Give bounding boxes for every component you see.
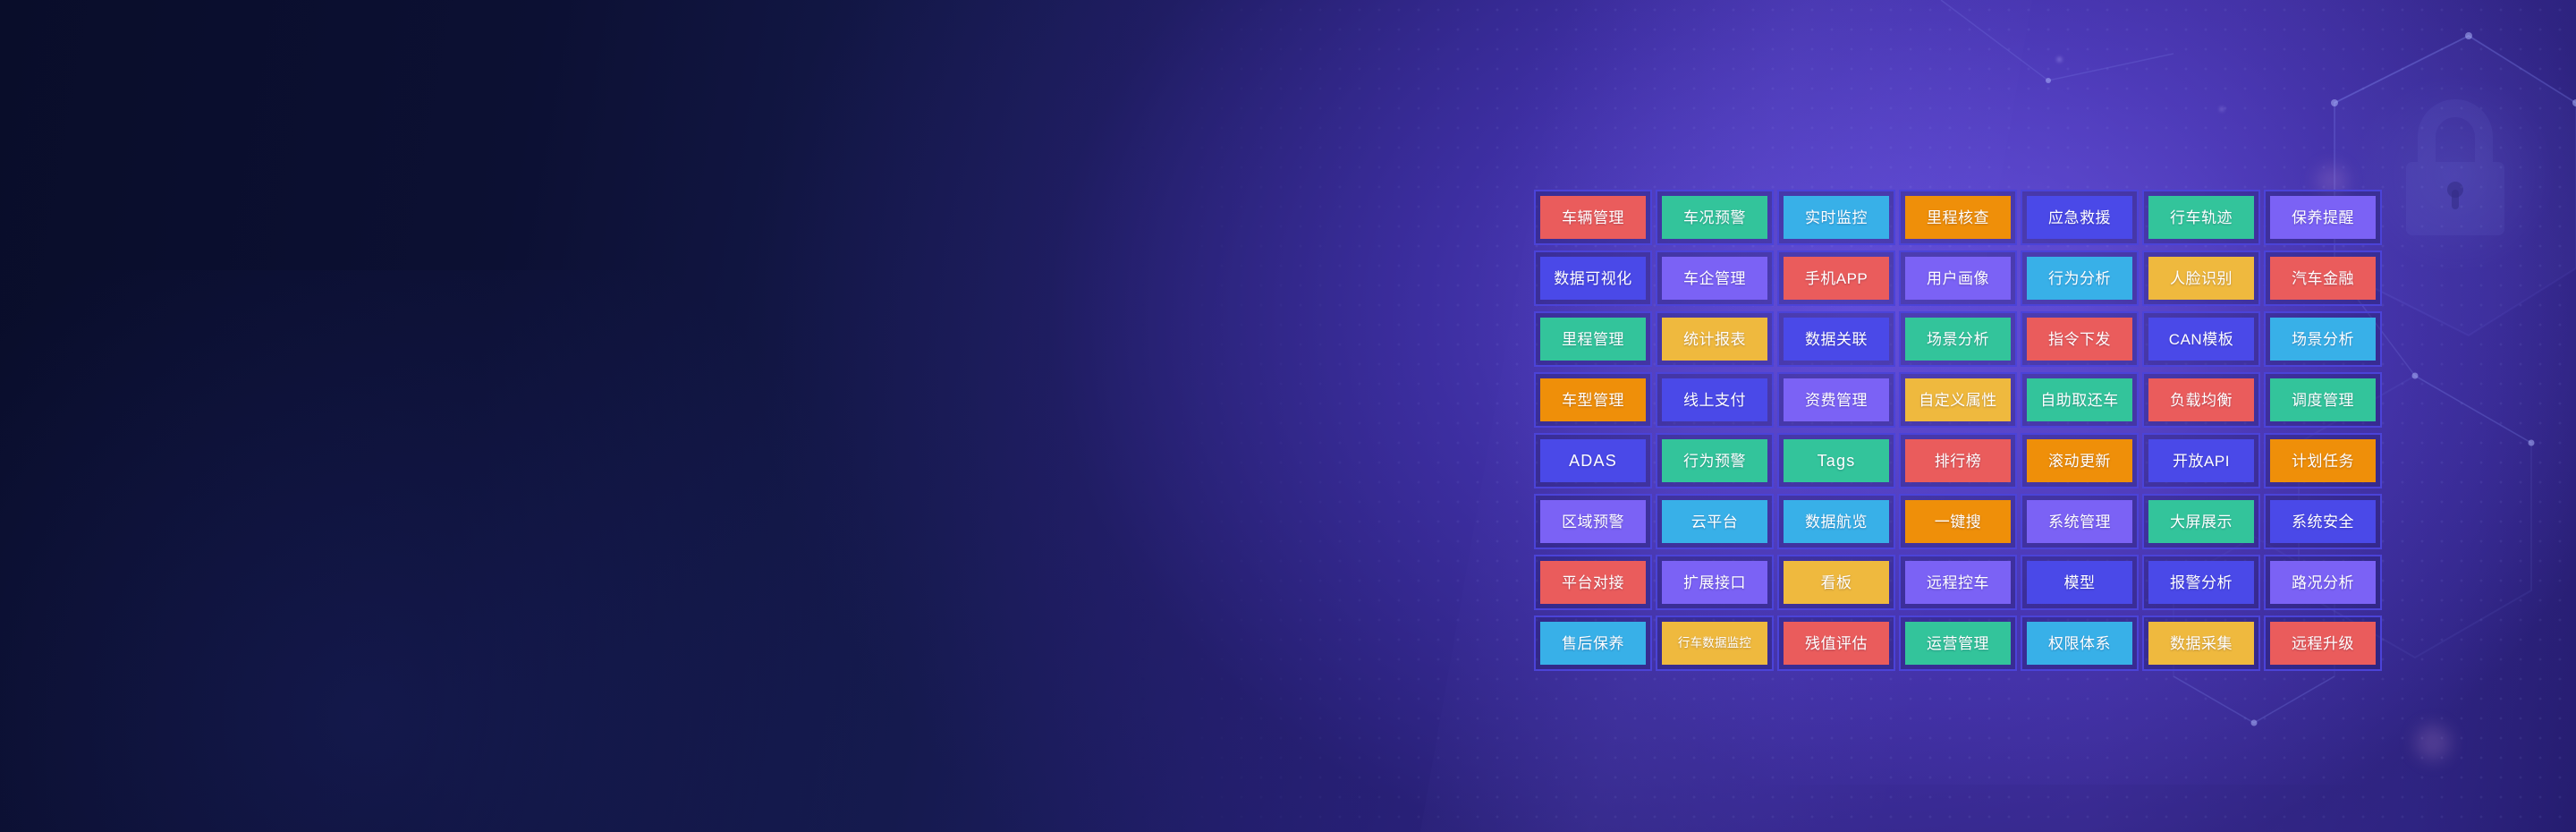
tag-label: ADAS (1569, 453, 1617, 469)
tag-color-block: 权限体系 (2027, 622, 2132, 665)
tag-label: CAN模板 (2169, 332, 2233, 347)
tag-color-block: 行为预警 (1662, 439, 1767, 482)
tag-color-block: 售后保养 (1540, 622, 1646, 665)
tag-chip[interactable]: Tags (1777, 433, 1895, 488)
tag-color-block: 指令下发 (2027, 318, 2132, 361)
tag-label: 自定义属性 (1919, 393, 1997, 408)
tag-chip[interactable]: 模型 (2021, 555, 2139, 610)
tag-color-block: 远程升级 (2270, 622, 2376, 665)
tag-label: 统计报表 (1683, 332, 1746, 347)
tag-chip[interactable]: 车型管理 (1534, 372, 1652, 428)
tag-color-block: 运营管理 (1905, 622, 2011, 665)
tag-label: 数据关联 (1805, 332, 1868, 347)
tag-color-block: 看板 (1784, 561, 1889, 604)
tag-chip[interactable]: 数据可视化 (1534, 250, 1652, 306)
tag-chip[interactable]: 统计报表 (1656, 311, 1774, 367)
tag-color-block: 行车数据监控 (1662, 622, 1767, 665)
tag-chip[interactable]: 运营管理 (1899, 616, 2017, 671)
tag-chip[interactable]: 自定义属性 (1899, 372, 2017, 428)
tag-label: 行车数据监控 (1678, 637, 1751, 649)
tag-color-block: 平台对接 (1540, 561, 1646, 604)
tag-label: 云平台 (1691, 514, 1739, 530)
padlock-icon (2352, 72, 2558, 277)
tag-label: 场景分析 (2292, 332, 2354, 347)
tag-label: 滚动更新 (2048, 454, 2111, 469)
tag-color-block: 系统安全 (2270, 500, 2376, 543)
tag-color-block: 场景分析 (1905, 318, 2011, 361)
tag-label: 人脸识别 (2170, 271, 2233, 286)
tag-chip[interactable]: 用户画像 (1899, 250, 2017, 306)
tag-chip[interactable]: 排行榜 (1899, 433, 2017, 488)
tag-label: 模型 (2064, 575, 2096, 590)
tag-chip[interactable]: 路况分析 (2264, 555, 2382, 610)
tag-color-block: 调度管理 (2270, 378, 2376, 421)
tag-label: 开放API (2173, 454, 2230, 469)
screen-root: 车辆管理车况预警实时监控里程核查应急救援行车轨迹保养提醒数据可视化车企管理手机A… (0, 0, 2576, 832)
tag-label: 售后保养 (1562, 636, 1624, 651)
tag-chip[interactable]: 远程升级 (2264, 616, 2382, 671)
tag-label: 保养提醒 (2292, 210, 2354, 225)
tag-chip[interactable]: 指令下发 (2021, 311, 2139, 367)
tag-label: 车辆管理 (1562, 210, 1624, 225)
tag-color-block: 资费管理 (1784, 378, 1889, 421)
tag-label: 行为分析 (2048, 271, 2111, 286)
tag-label: 远程控车 (1927, 575, 1989, 590)
tag-color-block: 一键搜 (1905, 500, 2011, 543)
tag-color-block: 实时监控 (1784, 196, 1889, 239)
tag-chip[interactable]: 看板 (1777, 555, 1895, 610)
tag-label: 数据可视化 (1554, 271, 1632, 286)
tag-chip[interactable]: 人脸识别 (2142, 250, 2260, 306)
tag-color-block: 大屏展示 (2148, 500, 2254, 543)
tag-chip[interactable]: 扩展接口 (1656, 555, 1774, 610)
tag-color-block: 人脸识别 (2148, 257, 2254, 300)
tag-color-block: 自定义属性 (1905, 378, 2011, 421)
tag-color-block: 数据可视化 (1540, 257, 1646, 300)
tag-label: 平台对接 (1562, 575, 1624, 590)
tag-color-block: 计划任务 (2270, 439, 2376, 482)
tag-color-block: 云平台 (1662, 500, 1767, 543)
tag-chip[interactable]: 一键搜 (1899, 494, 2017, 549)
tag-color-block: 里程管理 (1540, 318, 1646, 361)
tag-chip[interactable]: 里程核查 (1899, 190, 2017, 245)
tag-color-block: 手机APP (1784, 257, 1889, 300)
tag-label: 线上支付 (1683, 393, 1746, 408)
tag-color-block: 数据采集 (2148, 622, 2254, 665)
tag-label: 应急救援 (2048, 210, 2111, 225)
tag-color-block: 扩展接口 (1662, 561, 1767, 604)
tag-label: 系统安全 (2292, 514, 2354, 530)
tag-label: 车况预警 (1683, 210, 1746, 225)
tag-label: 资费管理 (1805, 393, 1868, 408)
tag-color-block: 模型 (2027, 561, 2132, 604)
tag-label: 车型管理 (1562, 393, 1624, 408)
tag-label: 排行榜 (1935, 454, 1982, 469)
tag-label: 数据采集 (2170, 636, 2233, 651)
tag-color-block: 开放API (2148, 439, 2254, 482)
tag-chip[interactable]: 报警分析 (2142, 555, 2260, 610)
tag-color-block: 线上支付 (1662, 378, 1767, 421)
tag-label: 用户画像 (1927, 271, 1989, 286)
tag-chip[interactable]: 行车数据监控 (1656, 616, 1774, 671)
bokeh-spark (2057, 57, 2062, 62)
tag-chip[interactable]: 计划任务 (2264, 433, 2382, 488)
tag-color-block: 汽车金融 (2270, 257, 2376, 300)
tag-chip[interactable]: CAN模板 (2142, 311, 2260, 367)
tag-chip[interactable]: 保养提醒 (2264, 190, 2382, 245)
tag-chip[interactable]: 车辆管理 (1534, 190, 1652, 245)
tag-color-block: 排行榜 (1905, 439, 2011, 482)
tag-label: 里程管理 (1562, 332, 1624, 347)
tag-chip[interactable]: 车企管理 (1656, 250, 1774, 306)
tag-color-block: 场景分析 (2270, 318, 2376, 361)
tag-chip[interactable]: 行车轨迹 (2142, 190, 2260, 245)
tag-grid: 车辆管理车况预警实时监控里程核查应急救援行车轨迹保养提醒数据可视化车企管理手机A… (1534, 190, 2382, 671)
tag-chip[interactable]: 里程管理 (1534, 311, 1652, 367)
tag-label: 行车轨迹 (2170, 210, 2233, 225)
tag-chip[interactable]: 场景分析 (2264, 311, 2382, 367)
tag-label: 汽车金融 (2292, 271, 2354, 286)
tag-color-block: 负载均衡 (2148, 378, 2254, 421)
tag-label: 路况分析 (2292, 575, 2354, 590)
tag-color-block: 数据航览 (1784, 500, 1889, 543)
tag-color-block: 里程核查 (1905, 196, 2011, 239)
tag-color-block: 区域预警 (1540, 500, 1646, 543)
tag-chip[interactable]: 车况预警 (1656, 190, 1774, 245)
tag-color-block: 应急救援 (2027, 196, 2132, 239)
tag-color-block: 系统管理 (2027, 500, 2132, 543)
tag-label: 系统管理 (2048, 514, 2111, 530)
tag-chip[interactable]: 区域预警 (1534, 494, 1652, 549)
tag-chip[interactable]: 开放API (2142, 433, 2260, 488)
tag-color-block: Tags (1784, 439, 1889, 482)
tag-label: 手机APP (1805, 271, 1868, 286)
tag-chip[interactable]: 数据关联 (1777, 311, 1895, 367)
tag-color-block: 远程控车 (1905, 561, 2011, 604)
tag-color-block: CAN模板 (2148, 318, 2254, 361)
tag-chip[interactable]: 滚动更新 (2021, 433, 2139, 488)
tag-chip[interactable]: 大屏展示 (2142, 494, 2260, 549)
tag-chip[interactable]: 行为分析 (2021, 250, 2139, 306)
tag-chip[interactable]: 售后保养 (1534, 616, 1652, 671)
tag-color-block: 车况预警 (1662, 196, 1767, 239)
tag-color-block: 残值评估 (1784, 622, 1889, 665)
tag-chip[interactable]: 平台对接 (1534, 555, 1652, 610)
tag-label: 一键搜 (1935, 514, 1982, 530)
tag-label: 实时监控 (1805, 210, 1868, 225)
tag-label: 远程升级 (2292, 636, 2354, 651)
tag-color-block: 数据关联 (1784, 318, 1889, 361)
tag-chip[interactable]: 自助取还车 (2021, 372, 2139, 428)
tag-label: 区域预警 (1562, 514, 1624, 530)
tag-label: 数据航览 (1805, 514, 1868, 530)
tag-chip[interactable]: 应急救援 (2021, 190, 2139, 245)
tag-chip[interactable]: 系统管理 (2021, 494, 2139, 549)
tag-chip[interactable]: 权限体系 (2021, 616, 2139, 671)
tag-color-block: ADAS (1540, 439, 1646, 482)
tag-chip[interactable]: 残值评估 (1777, 616, 1895, 671)
tag-color-block: 车型管理 (1540, 378, 1646, 421)
tag-chip[interactable]: 调度管理 (2264, 372, 2382, 428)
tag-label: 看板 (1821, 575, 1852, 590)
tag-color-block: 保养提醒 (2270, 196, 2376, 239)
tag-color-block: 路况分析 (2270, 561, 2376, 604)
tag-chip[interactable]: ADAS (1534, 433, 1652, 488)
tag-label: 里程核查 (1927, 210, 1989, 225)
tag-label: Tags (1818, 453, 1856, 469)
tag-label: 权限体系 (2048, 636, 2111, 651)
tag-label: 计划任务 (2292, 454, 2354, 469)
tag-label: 残值评估 (1805, 636, 1868, 651)
tag-chip[interactable]: 线上支付 (1656, 372, 1774, 428)
tag-color-block: 自助取还车 (2027, 378, 2132, 421)
tag-label: 负载均衡 (2170, 393, 2233, 408)
tag-label: 运营管理 (1927, 636, 1989, 651)
tag-color-block: 行为分析 (2027, 257, 2132, 300)
tag-label: 报警分析 (2170, 575, 2233, 590)
tag-chip[interactable]: 行为预警 (1656, 433, 1774, 488)
tag-color-block: 行车轨迹 (2148, 196, 2254, 239)
tag-chip[interactable]: 手机APP (1777, 250, 1895, 306)
bokeh-spark (2220, 107, 2224, 111)
tag-color-block: 统计报表 (1662, 318, 1767, 361)
tag-color-block: 报警分析 (2148, 561, 2254, 604)
tag-label: 指令下发 (2048, 332, 2111, 347)
tag-chip[interactable]: 负载均衡 (2142, 372, 2260, 428)
tag-label: 车企管理 (1683, 271, 1746, 286)
tag-chip[interactable]: 远程控车 (1899, 555, 2017, 610)
tag-label: 自助取还车 (2040, 393, 2119, 408)
tag-chip[interactable]: 汽车金融 (2264, 250, 2382, 306)
tag-chip[interactable]: 场景分析 (1899, 311, 2017, 367)
tag-chip[interactable]: 资费管理 (1777, 372, 1895, 428)
tag-color-block: 用户画像 (1905, 257, 2011, 300)
tag-chip[interactable]: 系统安全 (2264, 494, 2382, 549)
tag-label: 调度管理 (2292, 393, 2354, 408)
tag-chip[interactable]: 数据采集 (2142, 616, 2260, 671)
tag-label: 行为预警 (1683, 454, 1746, 469)
tag-color-block: 车辆管理 (1540, 196, 1646, 239)
tag-label: 场景分析 (1927, 332, 1989, 347)
tag-label: 扩展接口 (1683, 575, 1746, 590)
tag-color-block: 滚动更新 (2027, 439, 2132, 482)
tag-color-block: 车企管理 (1662, 257, 1767, 300)
tag-label: 大屏展示 (2170, 514, 2233, 530)
bokeh-spark (2415, 725, 2451, 760)
tag-chip[interactable]: 实时监控 (1777, 190, 1895, 245)
tag-chip[interactable]: 云平台 (1656, 494, 1774, 549)
tag-chip[interactable]: 数据航览 (1777, 494, 1895, 549)
